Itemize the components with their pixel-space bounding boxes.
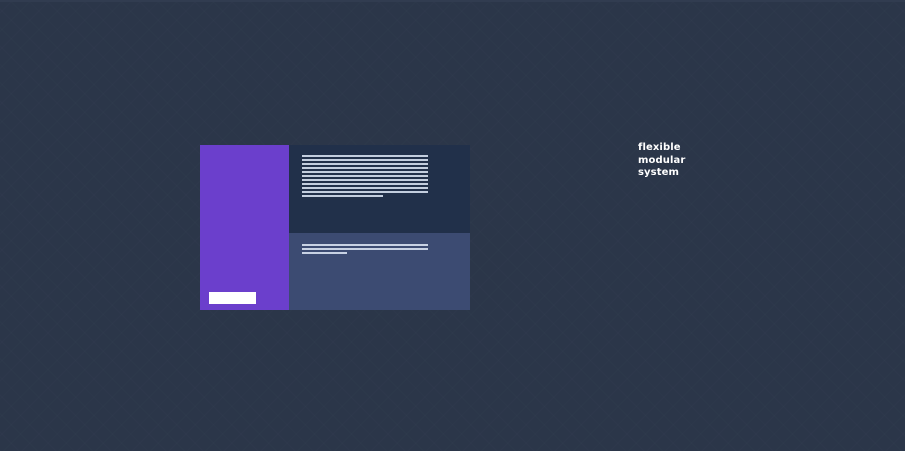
secondary-panel[interactable]	[289, 233, 470, 310]
text-line	[302, 155, 428, 157]
panel-stack	[289, 145, 470, 310]
secondary-text-lines	[302, 244, 428, 254]
text-line	[302, 163, 428, 165]
text-line	[302, 175, 428, 177]
top-edge-divider	[0, 0, 905, 2]
text-line	[302, 252, 347, 254]
stage-canvas: flexible modular system	[0, 0, 905, 451]
primary-text-lines	[302, 155, 428, 197]
text-line	[302, 183, 428, 185]
text-line	[302, 179, 428, 181]
caption-text: flexible modular system	[638, 142, 788, 180]
text-line	[302, 187, 428, 189]
text-line	[302, 244, 428, 246]
text-line	[302, 248, 428, 250]
accent-panel[interactable]	[200, 145, 289, 310]
primary-panel[interactable]	[289, 145, 470, 233]
text-line	[302, 191, 428, 193]
module-composition	[200, 145, 470, 310]
text-line	[302, 195, 383, 197]
text-line	[302, 159, 428, 161]
text-line	[302, 171, 428, 173]
text-line	[302, 167, 428, 169]
accent-action-button[interactable]	[209, 292, 256, 304]
